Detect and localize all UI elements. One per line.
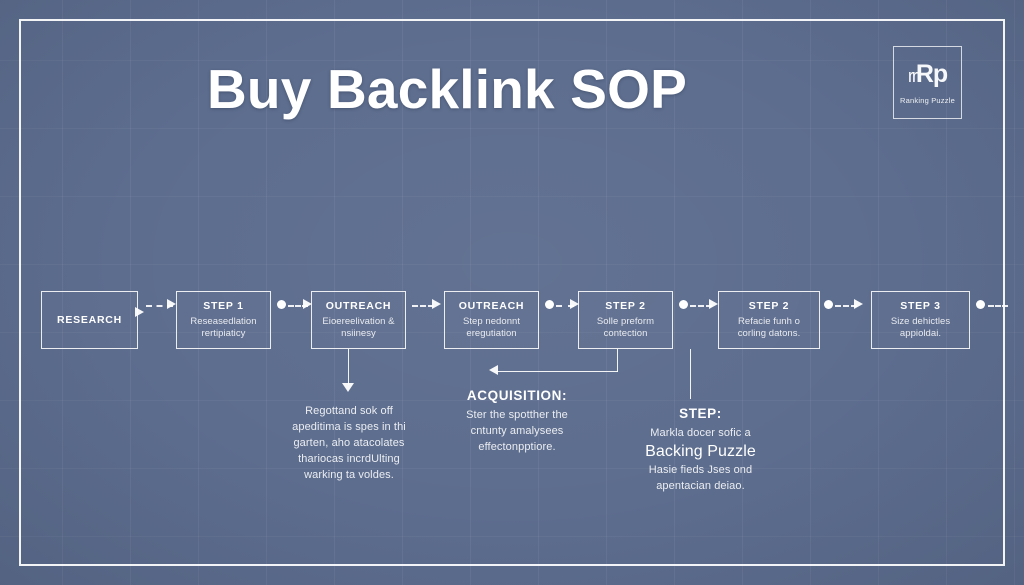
connector-dash-3 <box>412 305 434 307</box>
logo-monogram-icon: rrRp <box>908 61 947 89</box>
annotation-center-line-1: Ster the spotther the <box>436 407 598 423</box>
flow-node-step-1[interactable]: STEP 1 Reseasedlation rertipiaticy <box>176 291 271 349</box>
connector-dot-4 <box>545 300 554 309</box>
annotation-right-line-3: apentacian deiao. <box>613 478 788 494</box>
flow-node-title: STEP 3 <box>900 300 941 313</box>
branch-line-elbow-vertical <box>617 349 618 372</box>
flow-node-title: RESEARCH <box>57 314 122 327</box>
logo-caption: Ranking Puzzle <box>900 96 955 105</box>
connector-dot-2 <box>277 300 286 309</box>
annotation-center-heading: ACQUISITION: <box>436 386 598 405</box>
slide-canvas: Buy Backlink SOP rrRp Ranking Puzzle RES… <box>0 0 1024 585</box>
annotation-right-emphasis: Backing Puzzle <box>613 441 788 462</box>
flow-node-subtitle: Solle preform contection <box>584 316 667 341</box>
flow-node-step-2a[interactable]: STEP 2 Solle preform contection <box>578 291 673 349</box>
annotation-center-acquisition: ACQUISITION: Ster the spotther the cntun… <box>436 386 598 455</box>
flow-node-subtitle: Size dehictles appioldai. <box>877 316 964 341</box>
flow-node-research[interactable]: RESEARCH <box>41 291 138 349</box>
connector-arrow-5 <box>709 299 718 309</box>
flow-node-title: OUTREACH <box>459 300 525 313</box>
flow-node-step-2b[interactable]: STEP 2 Refacie funh o corling datons. <box>718 291 820 349</box>
flow-node-subtitle: Step nedonnt eregutiation <box>450 316 533 341</box>
branch-arrow-elbow <box>489 365 498 375</box>
branch-line-right <box>690 349 691 399</box>
annotation-center-line-3: effectonpptiore. <box>436 439 598 455</box>
connector-arrow-6 <box>854 299 863 309</box>
annotation-left-line-2: apeditima is spes in thi <box>271 419 427 435</box>
connector-arrow-nub-1 <box>135 307 144 317</box>
flow-node-title: STEP 2 <box>605 300 646 313</box>
connector-arrow-3 <box>432 299 441 309</box>
connector-dash-7-trailing <box>988 305 1008 307</box>
connector-dot-7 <box>976 300 985 309</box>
connector-arrow-1 <box>167 299 176 309</box>
annotation-right-line-1: Markla docer sofic a <box>613 425 788 441</box>
annotation-left-line-4: thariocas incrdUlting <box>271 451 427 467</box>
annotation-left-line-5: warking ta voldes. <box>271 467 427 483</box>
page-title: Buy Backlink SOP <box>207 58 687 120</box>
branch-line-elbow-horizontal <box>496 371 618 372</box>
flow-node-subtitle: Eioereelivation & nsiinesy <box>317 316 400 341</box>
annotation-right-heading: STEP: <box>613 404 788 423</box>
logo-monogram-right: Rp <box>916 60 947 88</box>
annotation-center-line-2: cntunty amalysees <box>436 423 598 439</box>
annotation-right-step: STEP: Markla docer sofic a Backing Puzzl… <box>613 404 788 494</box>
brand-logo: rrRp Ranking Puzzle <box>893 46 962 119</box>
connector-dot-6 <box>824 300 833 309</box>
annotation-left: Regottand sok off apeditima is spes in t… <box>271 403 427 483</box>
flow-node-outreach-2[interactable]: OUTREACH Step nedonnt eregutiation <box>444 291 539 349</box>
flow-node-title: OUTREACH <box>326 300 392 313</box>
flow-node-outreach-1[interactable]: OUTREACH Eioereelivation & nsiinesy <box>311 291 406 349</box>
annotation-left-line-3: garten, aho atacolates <box>271 435 427 451</box>
connector-dot-5 <box>679 300 688 309</box>
flow-node-title: STEP 1 <box>203 300 244 313</box>
flow-node-subtitle: Reseasedlation rertipiaticy <box>182 316 265 341</box>
annotation-right-line-2: Hasie fieds Jses ond <box>613 462 788 478</box>
annotation-left-line-1: Regottand sok off <box>271 403 427 419</box>
logo-monogram-left: rr <box>908 66 916 86</box>
flow-node-title: STEP 2 <box>749 300 790 313</box>
branch-line-left <box>348 349 349 385</box>
flow-node-subtitle: Refacie funh o corling datons. <box>724 316 814 341</box>
branch-arrow-left <box>342 383 354 392</box>
flow-node-step-3[interactable]: STEP 3 Size dehictles appioldai. <box>871 291 970 349</box>
